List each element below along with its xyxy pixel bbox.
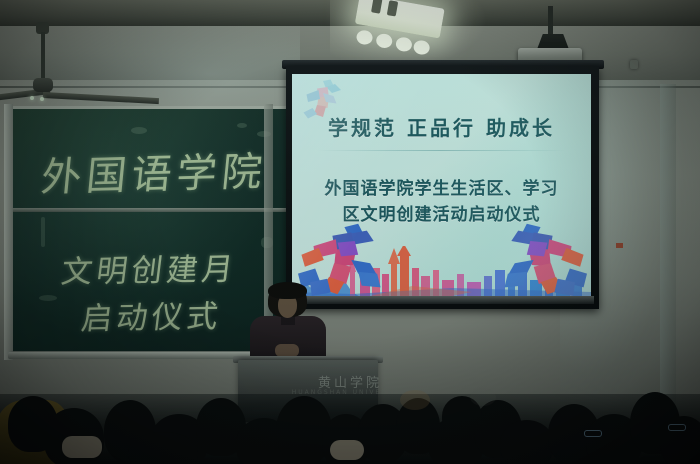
wall-fixture (630, 60, 638, 69)
blackboard-text-line3: 启动仪式 (79, 291, 225, 338)
blackboard-text-line2: 文明创建月 (59, 243, 240, 291)
blackboard-divider (11, 208, 287, 212)
audience-member (500, 420, 554, 464)
fluorescent-light-icon (353, 0, 445, 50)
wall-marker (616, 243, 623, 248)
blackboard-text-line1: 外国语学院 (39, 139, 270, 203)
blackboard-left-rail (4, 104, 13, 360)
screen-bottom-edge (288, 296, 594, 304)
audience-member (128, 432, 198, 464)
classroom-photo-scene: 外国语学院 文明创建月 启动仪式 学规范 正品行 助成长 外国语学院学生生活区、… (0, 0, 700, 464)
projection-screen: 学规范 正品行 助成长 外国语学院学生生活区、学习 区文明创建活动启动仪式 (292, 74, 591, 298)
wall-corner-pillar (660, 84, 676, 410)
screen-glare (292, 74, 591, 298)
